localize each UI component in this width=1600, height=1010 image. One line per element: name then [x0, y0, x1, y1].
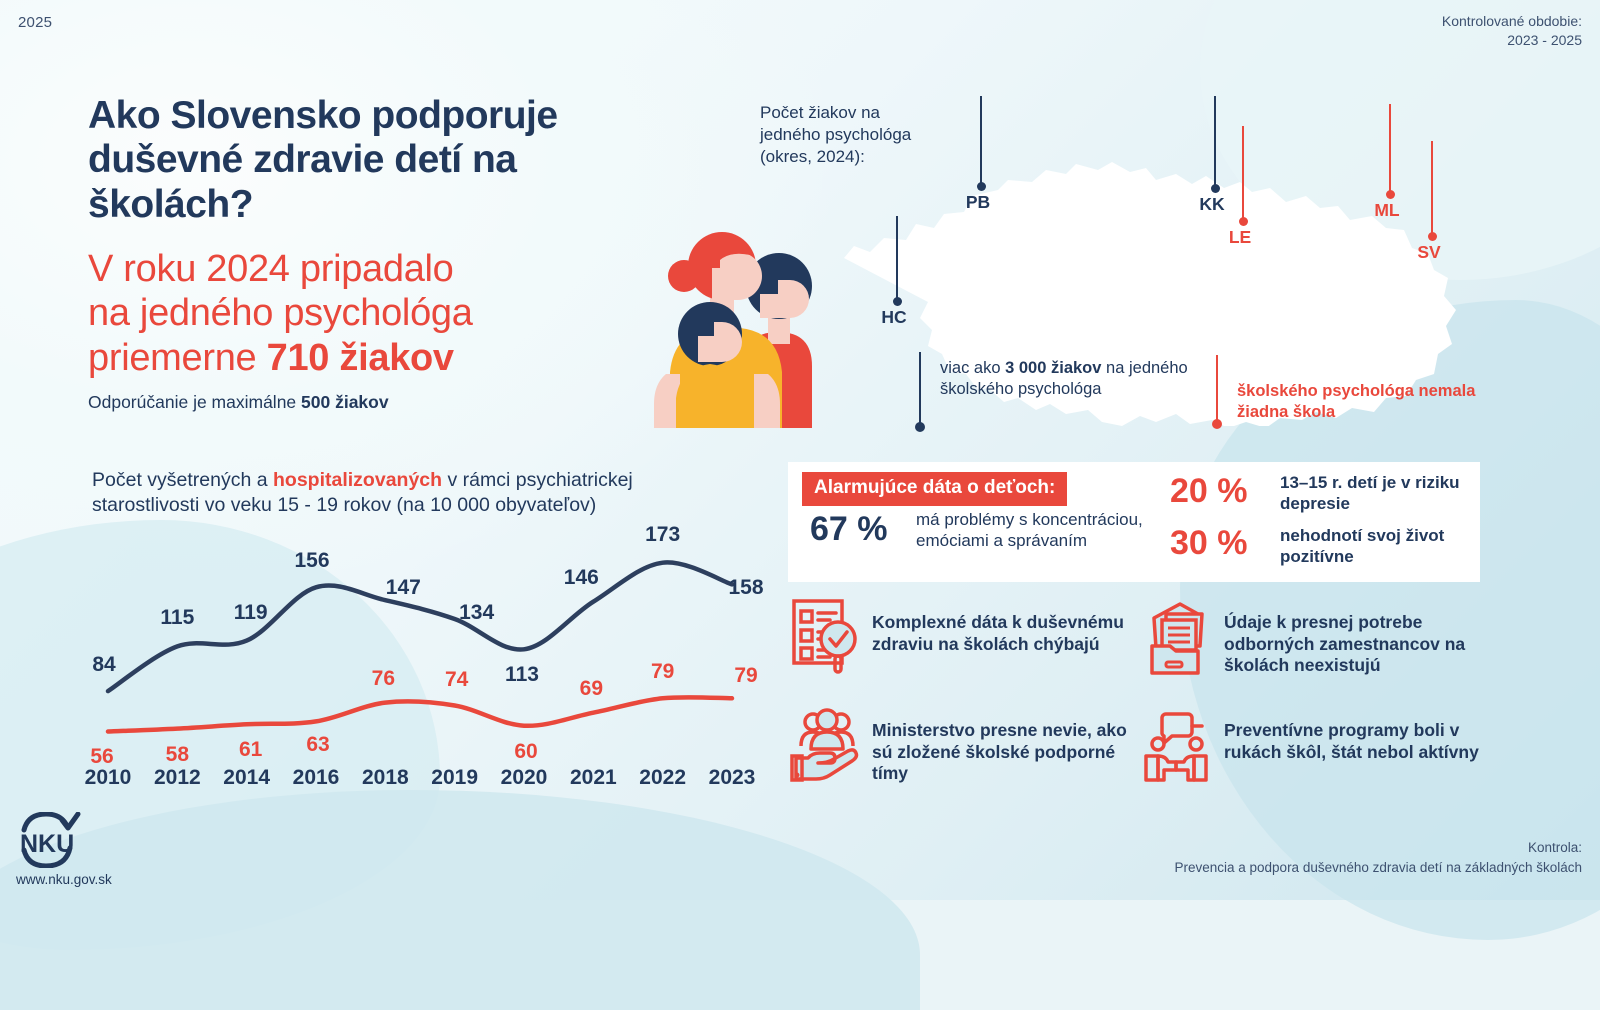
- hero-block: Ako Slovensko podporuje duševné zdravie …: [88, 94, 678, 413]
- chart-x-axis: 2010201220142016201820192020202120222023: [80, 766, 760, 800]
- map-pin-label-hc[interactable]: HC: [881, 307, 906, 328]
- stat-text-67: má problémy s koncentráciou, emóciami a …: [916, 509, 1166, 552]
- chart-title-highlight: hospitalizovaných: [273, 469, 442, 491]
- chart-point-label: 69: [580, 677, 603, 701]
- map-pin-connector-ml: [1389, 104, 1391, 194]
- chart-x-tick: 2016: [293, 766, 340, 790]
- nku-logo[interactable]: NKU: [16, 812, 108, 868]
- page-title: Ako Slovensko podporuje duševné zdravie …: [88, 94, 678, 227]
- finding-label: Ministerstvo presne nevie, ako sú zložen…: [872, 704, 1138, 785]
- chart-point-label: 76: [372, 667, 395, 691]
- chart-point-label: 115: [160, 606, 194, 630]
- map-pin-dot-sv: [1428, 232, 1437, 241]
- recommendation-prefix: Odporúčanie je maximálne: [88, 392, 301, 412]
- map-pin-connector-le: [1242, 126, 1244, 221]
- map-pin-dot-hc: [893, 297, 902, 306]
- chart-point-label: 84: [92, 653, 115, 677]
- finding-item: Komplexné dáta k duševnému zdraviu na šk…: [788, 596, 1138, 676]
- stat-text-30: nehodnotí svoj život pozitívne: [1280, 525, 1500, 567]
- chart-x-tick: 2014: [223, 766, 270, 790]
- map-pin-label-kk[interactable]: KK: [1199, 194, 1224, 215]
- audit-period: Kontrolované obdobie: 2023 - 2025: [1442, 12, 1582, 50]
- finding-item: Preventívne programy boli v rukách škôl,…: [1140, 704, 1490, 784]
- recommendation-note: Odporúčanie je maximálne 500 žiakov: [88, 392, 678, 413]
- hero-sub-line3-strong: 710 žiakov: [267, 337, 454, 379]
- map-pin-dot-le: [1239, 217, 1248, 226]
- people-in-hand-icon: [788, 704, 860, 784]
- chart-point-label: 156: [294, 549, 329, 573]
- findings-list: Komplexné dáta k duševnému zdraviu na šk…: [788, 596, 1488, 806]
- map-pin-label-pb[interactable]: PB: [966, 192, 990, 213]
- finding-label: Údaje k presnej potrebe odborných zamest…: [1224, 596, 1490, 677]
- map-pin-connector-kk: [1214, 96, 1216, 188]
- chart-data-labels: 8411511915614713411314617315856586163767…: [80, 525, 760, 775]
- chart-point-label: 113: [505, 663, 539, 687]
- note-navy-strong: 3 000 žiakov: [1005, 359, 1101, 377]
- alarming-data-panel: Alarmujúce dáta o deťoch: 67 % má problé…: [788, 462, 1480, 582]
- map-pin-dot-kk: [1211, 184, 1220, 193]
- hero-subtitle: V roku 2024 pripadalo na jedného psychol…: [88, 247, 678, 379]
- chart-x-tick: 2020: [501, 766, 548, 790]
- documents-folder-icon: [1140, 596, 1212, 676]
- recommendation-strong: 500 žiakov: [301, 392, 389, 412]
- map-pin-connector-hc: [896, 216, 898, 301]
- chart-point-label: 63: [306, 733, 329, 757]
- map-pin-label-sv[interactable]: SV: [1417, 242, 1440, 263]
- chart-point-label: 60: [514, 740, 537, 764]
- map-pin-label-ml[interactable]: ML: [1374, 200, 1399, 221]
- note-red-dot: [1212, 419, 1222, 429]
- stat-value-20: 20 %: [1170, 472, 1248, 511]
- alarming-data-badge: Alarmujúce dáta o deťoch:: [802, 472, 1067, 506]
- chart-point-label: 119: [234, 601, 268, 625]
- audit-footer: Kontrola: Prevencia a podpora duševného …: [1174, 838, 1582, 877]
- chart-x-tick: 2022: [639, 766, 686, 790]
- finding-item: Ministerstvo presne nevie, ako sú zložen…: [788, 704, 1138, 785]
- audit-label: Kontrola:: [1174, 838, 1582, 858]
- chart-x-tick: 2023: [709, 766, 756, 790]
- nku-website-url[interactable]: www.nku.gov.sk: [16, 872, 112, 887]
- chart-point-label: 173: [645, 523, 680, 547]
- meeting-presentation-icon: [1140, 704, 1212, 784]
- chart-point-label: 74: [445, 668, 468, 692]
- checklist-magnifier-icon: [788, 596, 860, 676]
- stat-value-67: 67 %: [810, 510, 888, 549]
- chart-x-tick: 2018: [362, 766, 409, 790]
- hero-sub-line1: V roku 2024 pripadalo: [88, 248, 454, 290]
- chart-point-label: 79: [651, 660, 674, 684]
- note-students-per-psychologist: viac ako 3 000 žiakov na jedného školské…: [940, 358, 1190, 400]
- stat-value-30: 30 %: [1170, 524, 1248, 563]
- chart-point-label: 134: [459, 601, 494, 625]
- svg-text:NKU: NKU: [20, 830, 74, 858]
- people-illustration: [628, 224, 844, 428]
- audit-name: Prevencia a podpora duševného zdravia de…: [1174, 858, 1582, 878]
- map-pin-dot-ml: [1386, 190, 1395, 199]
- chart-point-label: 79: [734, 664, 757, 688]
- finding-label: Preventívne programy boli v rukách škôl,…: [1224, 704, 1490, 763]
- audit-period-value: 2023 - 2025: [1442, 31, 1582, 50]
- note-no-psychologist: školského psychológa nemala žiadna škola: [1237, 381, 1497, 423]
- finding-item: Údaje k presnej potrebe odborných zamest…: [1140, 596, 1490, 677]
- map-pin-connector-sv: [1431, 141, 1433, 236]
- chart-x-tick: 2010: [85, 766, 132, 790]
- chart-title-part1: Počet vyšetrených a: [92, 469, 273, 491]
- chart-point-label: 61: [239, 738, 262, 762]
- map-pin-connector-pb: [980, 96, 982, 186]
- chart-point-label: 158: [728, 576, 763, 600]
- note-navy-dot: [915, 422, 925, 432]
- decorative-blob-bottom: [0, 790, 920, 1010]
- stat-text-20: 13–15 r. detí je v riziku depresie: [1280, 472, 1500, 514]
- year-label: 2025: [18, 14, 52, 31]
- chart-x-tick: 2012: [154, 766, 201, 790]
- chart-x-tick: 2021: [570, 766, 617, 790]
- note-navy-connector: [919, 352, 921, 428]
- chart-point-label: 58: [166, 743, 189, 767]
- hero-sub-line2: na jedného psychológa: [88, 292, 473, 334]
- audit-period-label: Kontrolované obdobie:: [1442, 12, 1582, 31]
- finding-label: Komplexné dáta k duševnému zdraviu na šk…: [872, 596, 1138, 655]
- chart-x-tick: 2019: [431, 766, 478, 790]
- chart-point-label: 146: [564, 566, 599, 590]
- note-navy-prefix: viac ako: [940, 359, 1005, 377]
- map-pin-label-le[interactable]: LE: [1229, 227, 1251, 248]
- map-pin-dot-pb: [977, 182, 986, 191]
- infographic-root: 2025 Kontrolované obdobie: 2023 - 2025 A…: [0, 0, 1600, 900]
- hero-sub-line3-prefix: priemerne: [88, 337, 267, 379]
- chart-title: Počet vyšetrených a hospitalizovaných v …: [92, 468, 692, 518]
- chart-point-label: 147: [386, 576, 421, 600]
- note-red-connector: [1216, 355, 1218, 425]
